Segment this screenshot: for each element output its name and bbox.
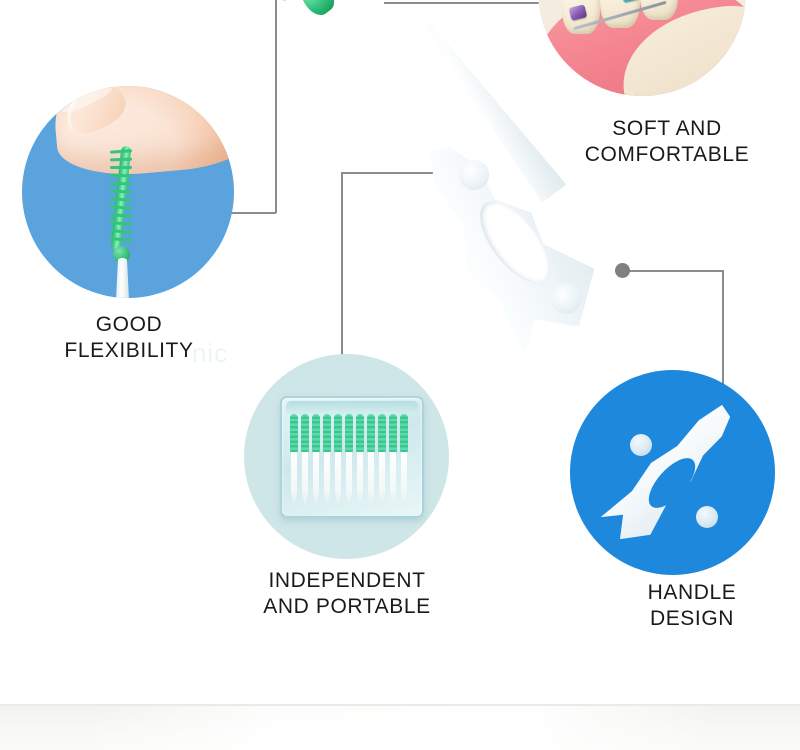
handle-boss-upper xyxy=(630,434,652,456)
pick xyxy=(356,414,364,508)
pick xyxy=(378,414,386,508)
product-grip-boss-lower xyxy=(551,284,581,314)
surface-band xyxy=(0,706,800,750)
infographic-page: GOOD FLEXIBILITY SOFT AND COMFORTABLE IN… xyxy=(0,0,800,750)
feature-label-handle-design: HANDLE DESIGN xyxy=(582,580,800,631)
connector-dot-portable xyxy=(440,165,455,180)
connector-portable-horizontal xyxy=(341,172,447,174)
brush-stem xyxy=(116,258,129,298)
feature-image-good-flexibility xyxy=(22,86,234,298)
product-grip-boss-upper xyxy=(459,160,489,190)
feature-image-independent-and-portable xyxy=(244,354,449,559)
green-brush-bulb xyxy=(293,0,339,20)
bent-brush-graphic xyxy=(108,146,134,268)
bristle xyxy=(110,181,132,185)
case-lid xyxy=(286,401,418,415)
travel-case-graphic xyxy=(280,396,424,518)
feature-image-handle-design xyxy=(570,370,775,575)
pick xyxy=(301,414,309,508)
green-spike xyxy=(280,0,298,2)
fingernail-graphic xyxy=(57,86,132,142)
bristle xyxy=(110,166,132,169)
feature-label-soft-and-comfortable: SOFT AND COMFORTABLE xyxy=(548,116,786,167)
pick xyxy=(323,414,331,508)
pick xyxy=(367,414,375,508)
pick xyxy=(312,414,320,508)
feature-image-soft-and-comfortable xyxy=(538,0,746,96)
connector-portable-vertical xyxy=(341,172,343,375)
pick xyxy=(400,414,408,508)
product-grip-hole xyxy=(468,190,561,293)
pick xyxy=(389,414,397,508)
connector-dot-handle xyxy=(615,263,630,278)
watermark-text: nic xyxy=(192,338,228,369)
handle-boss-lower xyxy=(696,506,718,528)
connector-handle-horizontal xyxy=(628,270,723,272)
pick xyxy=(334,414,342,508)
feature-label-independent-and-portable: INDEPENDENT AND PORTABLE xyxy=(228,568,466,619)
connector-flexibility-vertical xyxy=(275,0,277,213)
handle-closeup-graphic xyxy=(596,396,748,548)
pick xyxy=(345,414,353,508)
pick xyxy=(290,414,298,508)
bristle xyxy=(110,174,132,177)
green-brush-head xyxy=(255,0,356,40)
fingertip-graphic xyxy=(49,86,234,181)
